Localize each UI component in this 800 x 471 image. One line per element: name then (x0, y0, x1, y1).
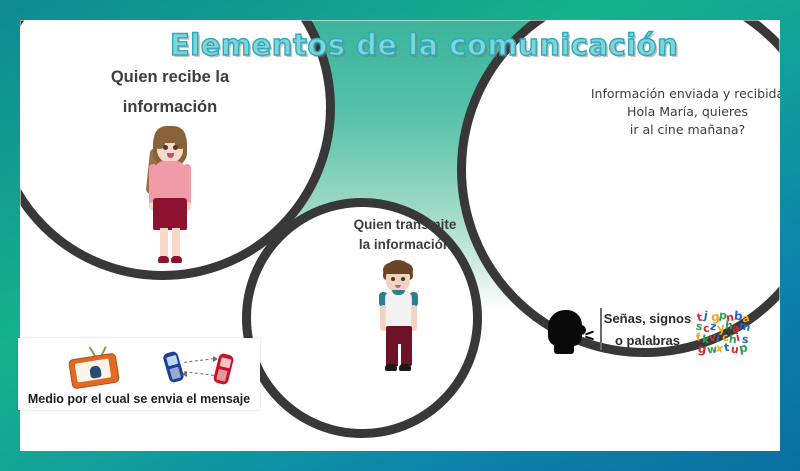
arrowhead-left (182, 371, 187, 377)
girl-skirt (153, 198, 187, 230)
girl-leg-left (160, 228, 168, 258)
code-label-line1: Señas, signos (604, 311, 691, 326)
code-label: Señas, signos o palabras (590, 308, 705, 352)
mobile-phone-icon-blue (162, 351, 185, 384)
girl-leg-right (172, 228, 180, 258)
message-label: Información enviada y recibida Hola Marí… (575, 85, 780, 139)
message-line3: ir al cine mañana? (575, 121, 780, 139)
message-line1: Información enviada y recibida (575, 85, 780, 103)
sender-label-line2: la información (359, 237, 451, 252)
alphabet-letter-1: j (703, 310, 708, 321)
alphabet-letters-icon: tjgpnbasczyhamfkvichisgwxtup (696, 310, 754, 360)
boy-character (372, 260, 424, 375)
phone-keypad (216, 369, 227, 382)
sender-label-line1: Quien transmite (354, 217, 457, 232)
girl-eye-right (173, 145, 178, 150)
phone-keypad (169, 367, 181, 380)
signal-arrow-forward (184, 358, 214, 363)
boy-shoe-left (385, 364, 397, 371)
boy-pants-gap (398, 344, 401, 366)
phone-screen (166, 355, 178, 366)
boy-eye-left (391, 277, 395, 281)
media-caption: Medio por el cual se envia el mensaje (18, 392, 260, 406)
phones-group (164, 346, 244, 388)
girl-character (141, 126, 199, 266)
receiver-label-line1: Quien recibe la (111, 68, 229, 86)
head-neck (554, 342, 574, 354)
arrowhead-right (213, 356, 218, 362)
slide: Elementos de la comunicación Quien recib… (0, 0, 800, 471)
tv-screen-image (89, 365, 102, 379)
alphabet-letter-27: p (738, 341, 749, 354)
receiver-label-line2: información (123, 98, 217, 116)
receiver-label: Quien recibe la información (60, 62, 280, 122)
media-panel: Medio por el cual se envia el mensaje (18, 338, 260, 410)
girl-eye-left (163, 145, 168, 150)
signal-arrow-back (184, 371, 214, 376)
page-title: Elementos de la comunicación (170, 28, 630, 62)
television-icon (66, 346, 122, 386)
phone-screen (219, 357, 231, 368)
code-label-line2: o palabras (615, 333, 680, 348)
message-line2: Hola María, quieres (575, 103, 780, 121)
boy-shirt (385, 291, 412, 329)
girl-shirt (155, 161, 185, 203)
boy-eye-right (401, 277, 405, 281)
girl-shoe-right (171, 256, 182, 263)
alphabet-letter-13: m (738, 320, 751, 333)
boy-shoe-right (399, 364, 411, 371)
boy-fringe (383, 263, 413, 274)
girl-shoe-left (158, 256, 169, 263)
alphabet-letter-25: t (724, 342, 730, 353)
sender-label: Quien transmite la información (325, 215, 485, 255)
